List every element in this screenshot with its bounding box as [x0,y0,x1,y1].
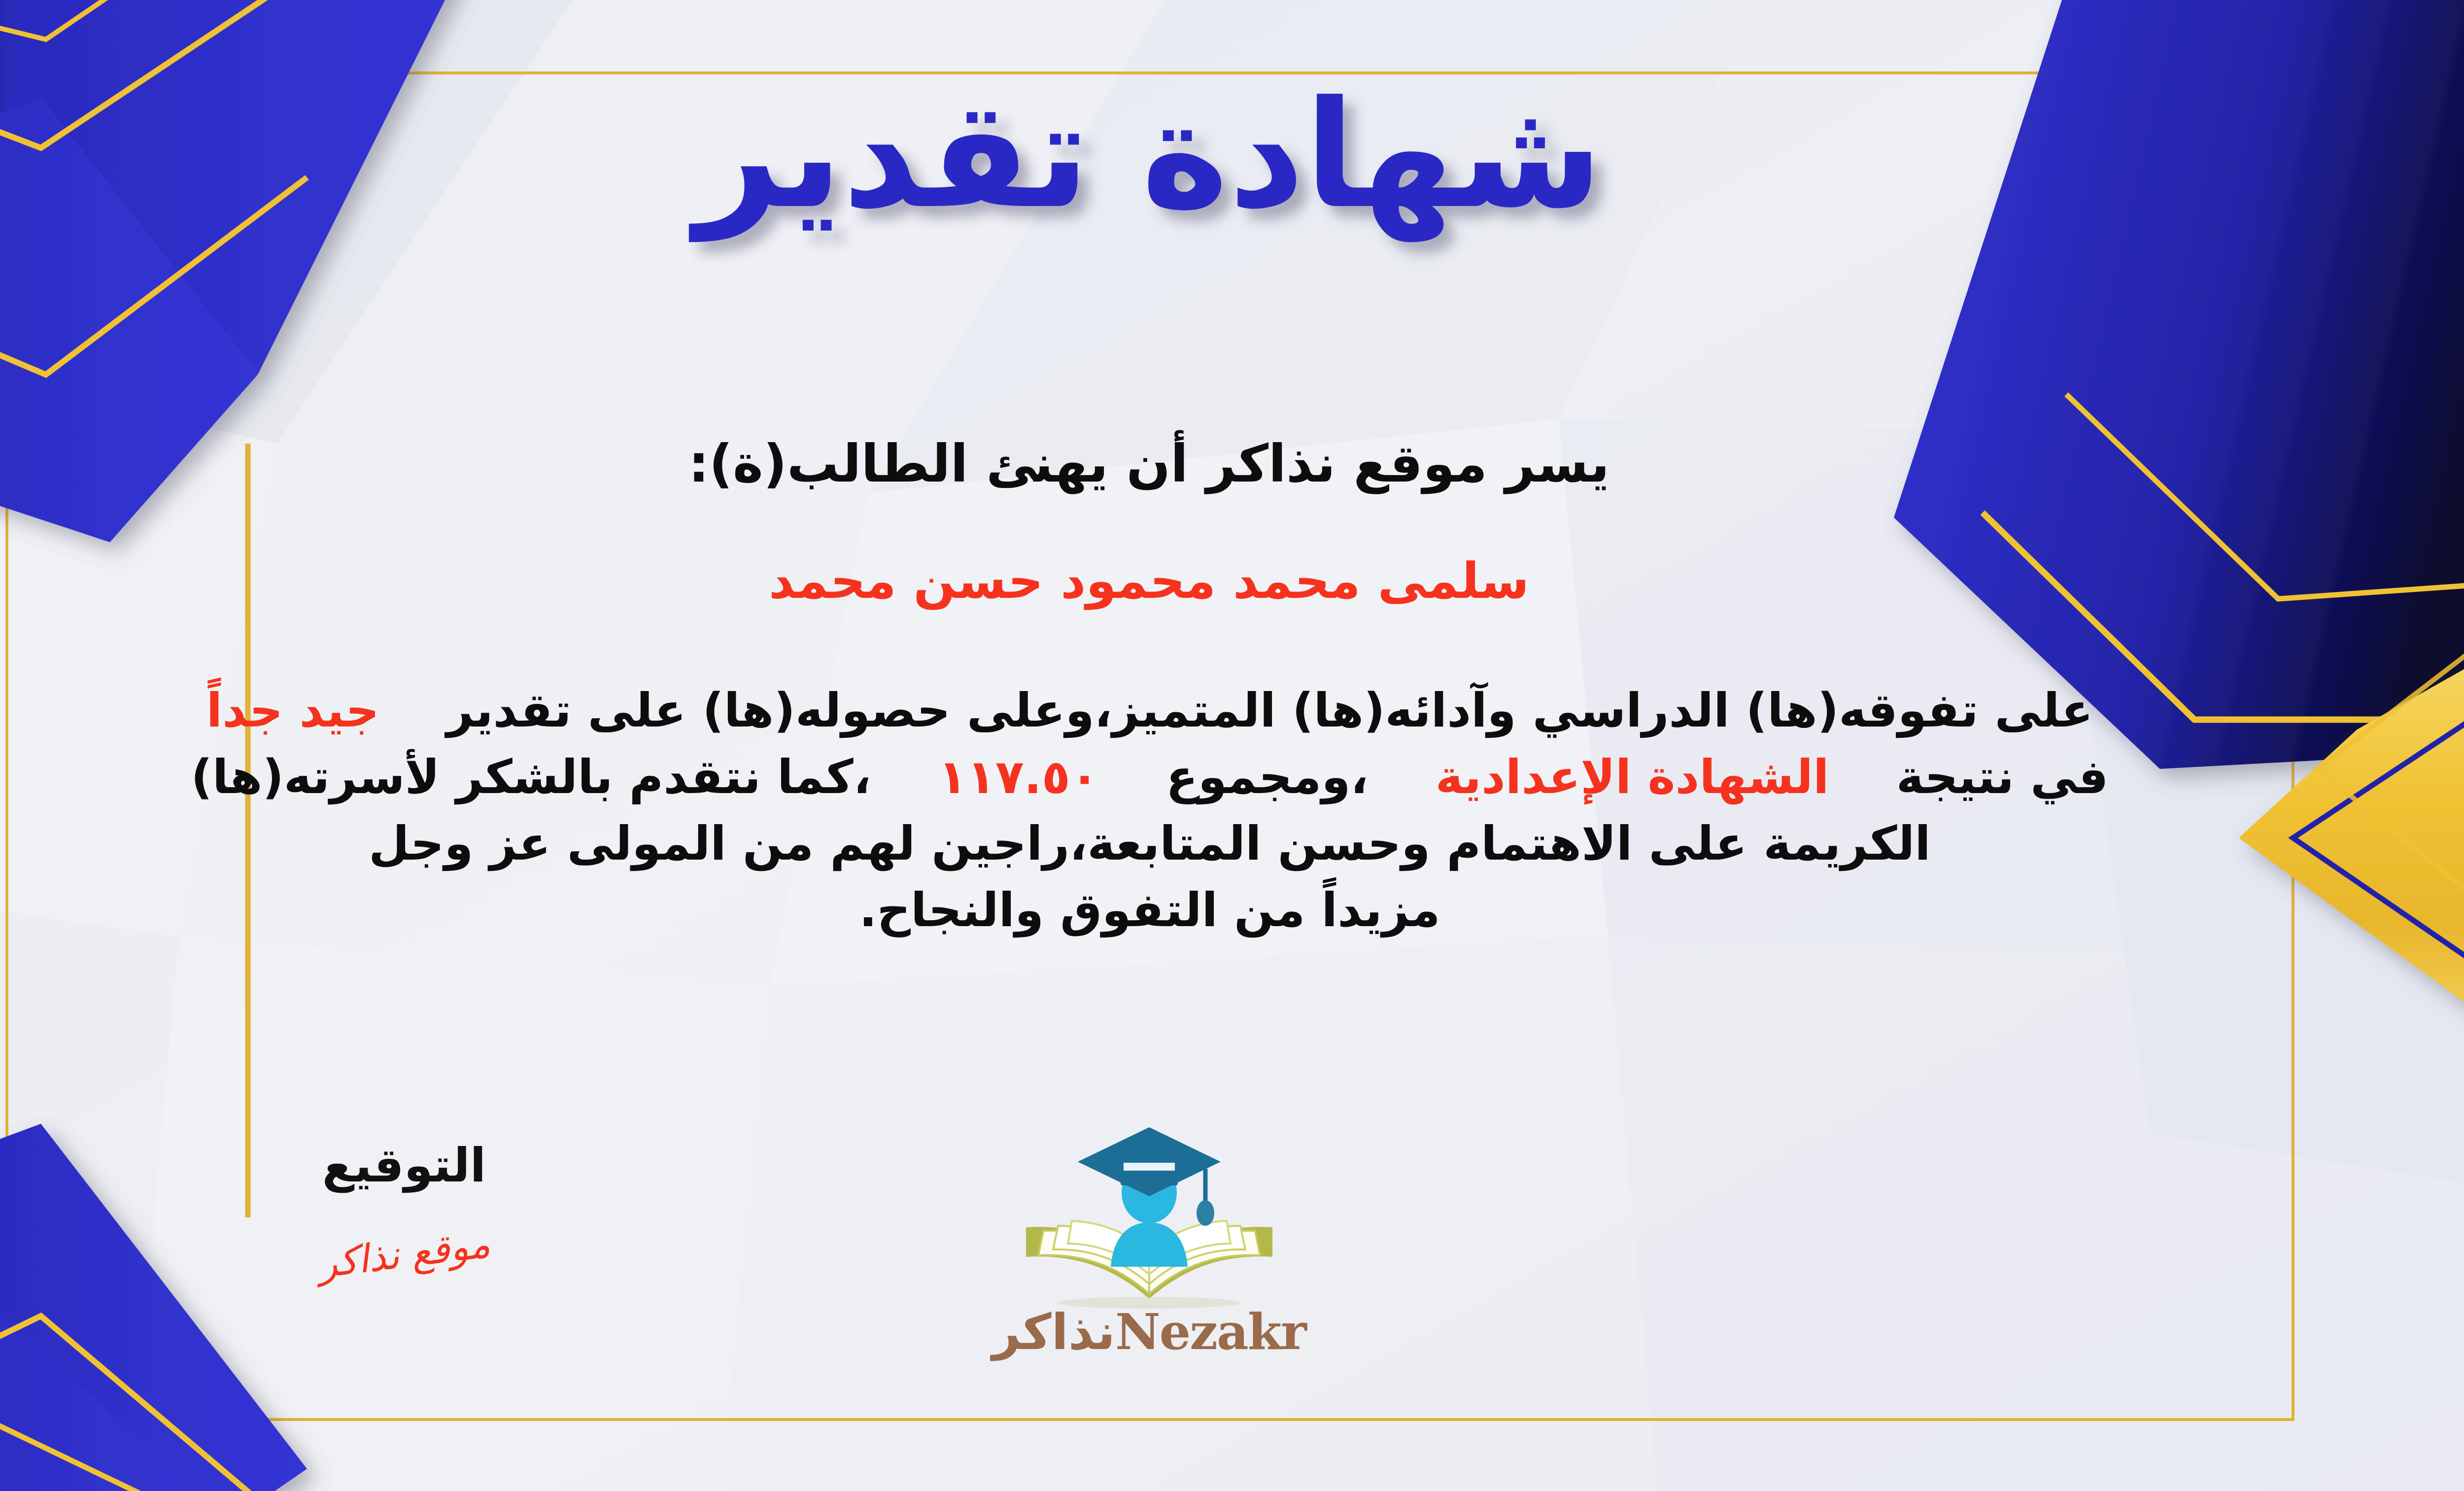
brand-logo: Nezakrنذاكر [918,1116,1381,1361]
exam-name: الشهادة الإعدادية [1436,750,1829,804]
signature-label: التوقيع [207,1139,601,1193]
logo-latin: Nezakr [1115,1303,1306,1361]
grade-value: جيد جداً [206,684,379,738]
body-line-3: الكريمة على الاهتمام وحسن المتابعة،راجين… [0,811,2303,877]
student-name: سلمى محمد محمود حسن محمد [0,552,2464,610]
total-score: ١١٧.٥٠ [938,750,1099,804]
signature-mark: موقع نذاكر [316,1222,493,1287]
logo-arabic: نذاكر [992,1303,1115,1361]
thanks-text: ،كما نتقدم بالشكر لأسرته(ها) [191,750,871,804]
achievement-text: على تفوقه(ها) الدراسي وآدائه(ها) المتميز… [446,684,2093,738]
intro-text: يسر موقع نذاكر أن يهنئ الطالب(ة): [0,434,2464,494]
body-line-4: مزيداً من التفوق والنجاح. [0,877,2303,944]
graduation-cap-book-icon [996,1116,1302,1314]
certificate-content: شهادة تقدير يسر موقع نذاكر أن يهنئ الطال… [0,0,2464,1491]
certificate-canvas: شهادة تقدير يسر موقع نذاكر أن يهنئ الطال… [0,0,2464,1491]
body-line-2: في نتيجة الشهادة الإعدادية ،ومجموع ١١٧.٥… [0,744,2303,811]
result-prefix: في نتيجة [1896,750,2109,804]
signature-block: التوقيع موقع نذاكر [207,1139,601,1277]
page-title: شهادة تقدير [0,74,2464,237]
logo-text: Nezakrنذاكر [918,1303,1381,1361]
total-label: ،ومجموع [1166,750,1369,804]
body-line-1: على تفوقه(ها) الدراسي وآدائه(ها) المتميز… [0,678,2303,744]
body-paragraph: على تفوقه(ها) الدراسي وآدائه(ها) المتميز… [0,678,2303,944]
